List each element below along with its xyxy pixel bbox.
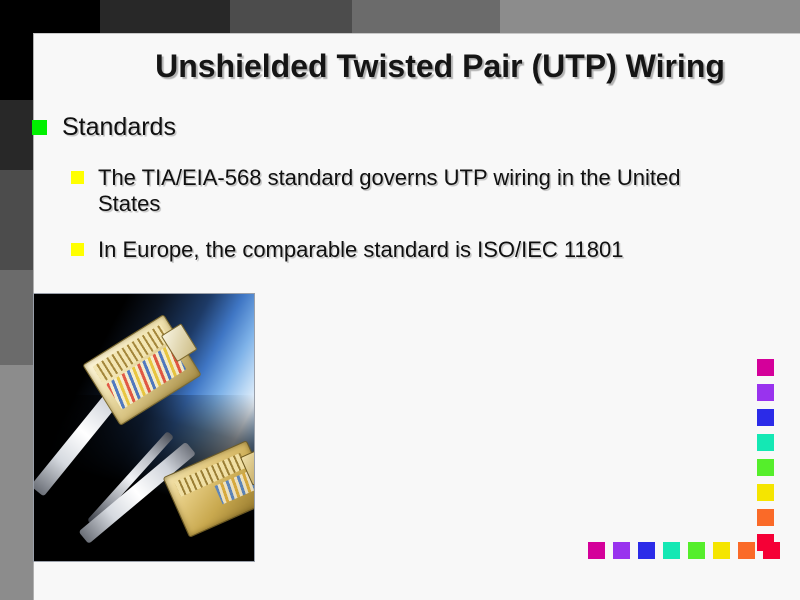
bullet-label: In Europe, the comparable standard is IS… — [98, 237, 623, 263]
square-orange — [757, 509, 774, 526]
square-green-fill — [688, 542, 705, 559]
bullet-label: Standards — [62, 113, 176, 141]
square-purple-fill — [757, 384, 774, 401]
band-light — [500, 0, 800, 33]
square-blue-fill — [757, 409, 774, 426]
square-orange — [738, 542, 755, 559]
band-dark — [0, 170, 33, 270]
band-medium — [352, 0, 500, 33]
square-blue-fill — [638, 542, 655, 559]
square-purple — [757, 384, 774, 401]
square-green — [757, 459, 774, 476]
band-dark — [230, 0, 352, 33]
square-red — [763, 542, 780, 559]
square-magenta-fill — [588, 542, 605, 559]
page-title: Unshielded Twisted Pair (UTP) Wiring — [100, 48, 780, 85]
square-red-fill — [763, 542, 780, 559]
yellow-square-bullet-icon — [71, 243, 84, 256]
square-yellow — [713, 542, 730, 559]
bullet-item-standards: Standards — [32, 113, 732, 141]
square-turquoise-fill — [757, 434, 774, 451]
square-magenta — [757, 359, 774, 376]
band-darkest — [0, 100, 33, 170]
square-yellow-fill — [713, 542, 730, 559]
square-blue — [757, 409, 774, 426]
bullet-item-iso-iec-11801: In Europe, the comparable standard is IS… — [71, 237, 761, 263]
square-green-fill — [757, 459, 774, 476]
square-orange-fill — [738, 542, 755, 559]
green-square-bullet-icon — [32, 120, 47, 135]
bullet-label: The TIA/EIA-568 standard governs UTP wir… — [98, 165, 736, 216]
square-turquoise — [663, 542, 680, 559]
bullet-item-tia-eia-568: The TIA/EIA-568 standard governs UTP wir… — [71, 165, 736, 216]
yellow-square-bullet-icon — [71, 171, 84, 184]
utp-rj45-connectors-photo — [33, 293, 255, 562]
square-magenta-fill — [757, 359, 774, 376]
band-light — [0, 365, 33, 600]
square-purple — [613, 542, 630, 559]
square-yellow — [757, 484, 774, 501]
band-black — [0, 0, 33, 100]
band-darkest — [100, 0, 230, 33]
band-medium — [0, 270, 33, 365]
square-magenta — [588, 542, 605, 559]
square-orange-fill — [757, 509, 774, 526]
square-green — [688, 542, 705, 559]
square-blue — [638, 542, 655, 559]
square-purple-fill — [613, 542, 630, 559]
presentation-slide: Unshielded Twisted Pair (UTP) Wiring Sta… — [0, 0, 800, 600]
square-yellow-fill — [757, 484, 774, 501]
square-turquoise — [757, 434, 774, 451]
square-turquoise-fill — [663, 542, 680, 559]
